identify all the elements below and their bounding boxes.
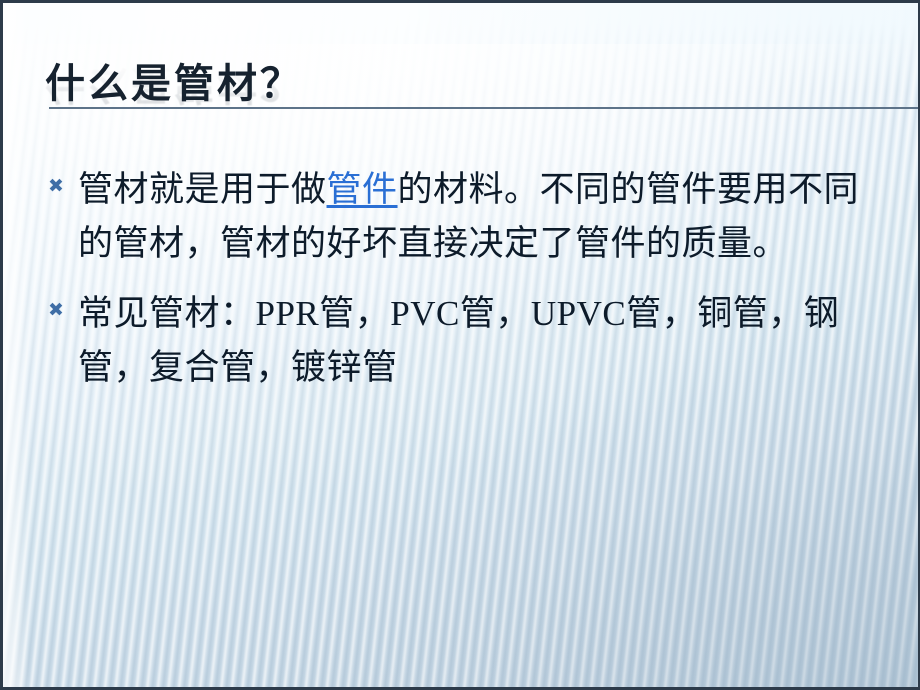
- multiply-x-icon: ✖: [47, 177, 65, 195]
- presentation-slide: 什么是管材？ 什么是管材？ ✖管材就是用于做管件的材料。不同的管件要用不同的管材…: [0, 0, 920, 690]
- hyperlink[interactable]: 管件: [327, 170, 398, 209]
- bullet-item: ✖管材就是用于做管件的材料。不同的管件要用不同的管材，管材的好坏直接决定了管件的…: [41, 163, 894, 271]
- text-run: 管材就是用于做: [78, 170, 327, 209]
- slide-title: 什么是管材？: [43, 61, 903, 107]
- bullet-item: ✖常见管材：PPR管，PVC管，UPVC管，铜管，钢管，复合管，镀锌管: [41, 287, 894, 395]
- slide-bullet-list: ✖管材就是用于做管件的材料。不同的管件要用不同的管材，管材的好坏直接决定了管件的…: [41, 163, 894, 411]
- slide-content: 什么是管材？ 什么是管材？ ✖管材就是用于做管件的材料。不同的管件要用不同的管材…: [3, 3, 918, 687]
- multiply-x-icon: ✖: [47, 301, 65, 319]
- title-underline-rule: [49, 107, 920, 109]
- bullet-text: 常见管材：PPR管，PVC管，UPVC管，铜管，钢管，复合管，镀锌管: [78, 294, 839, 387]
- text-run: 常见管材：PPR管，PVC管，UPVC管，铜管，钢管，复合管，镀锌管: [78, 294, 839, 387]
- slide-title-block: 什么是管材？ 什么是管材？: [43, 61, 903, 161]
- bullet-text: 管材就是用于做管件的材料。不同的管件要用不同的管材，管材的好坏直接决定了管件的质…: [78, 170, 859, 263]
